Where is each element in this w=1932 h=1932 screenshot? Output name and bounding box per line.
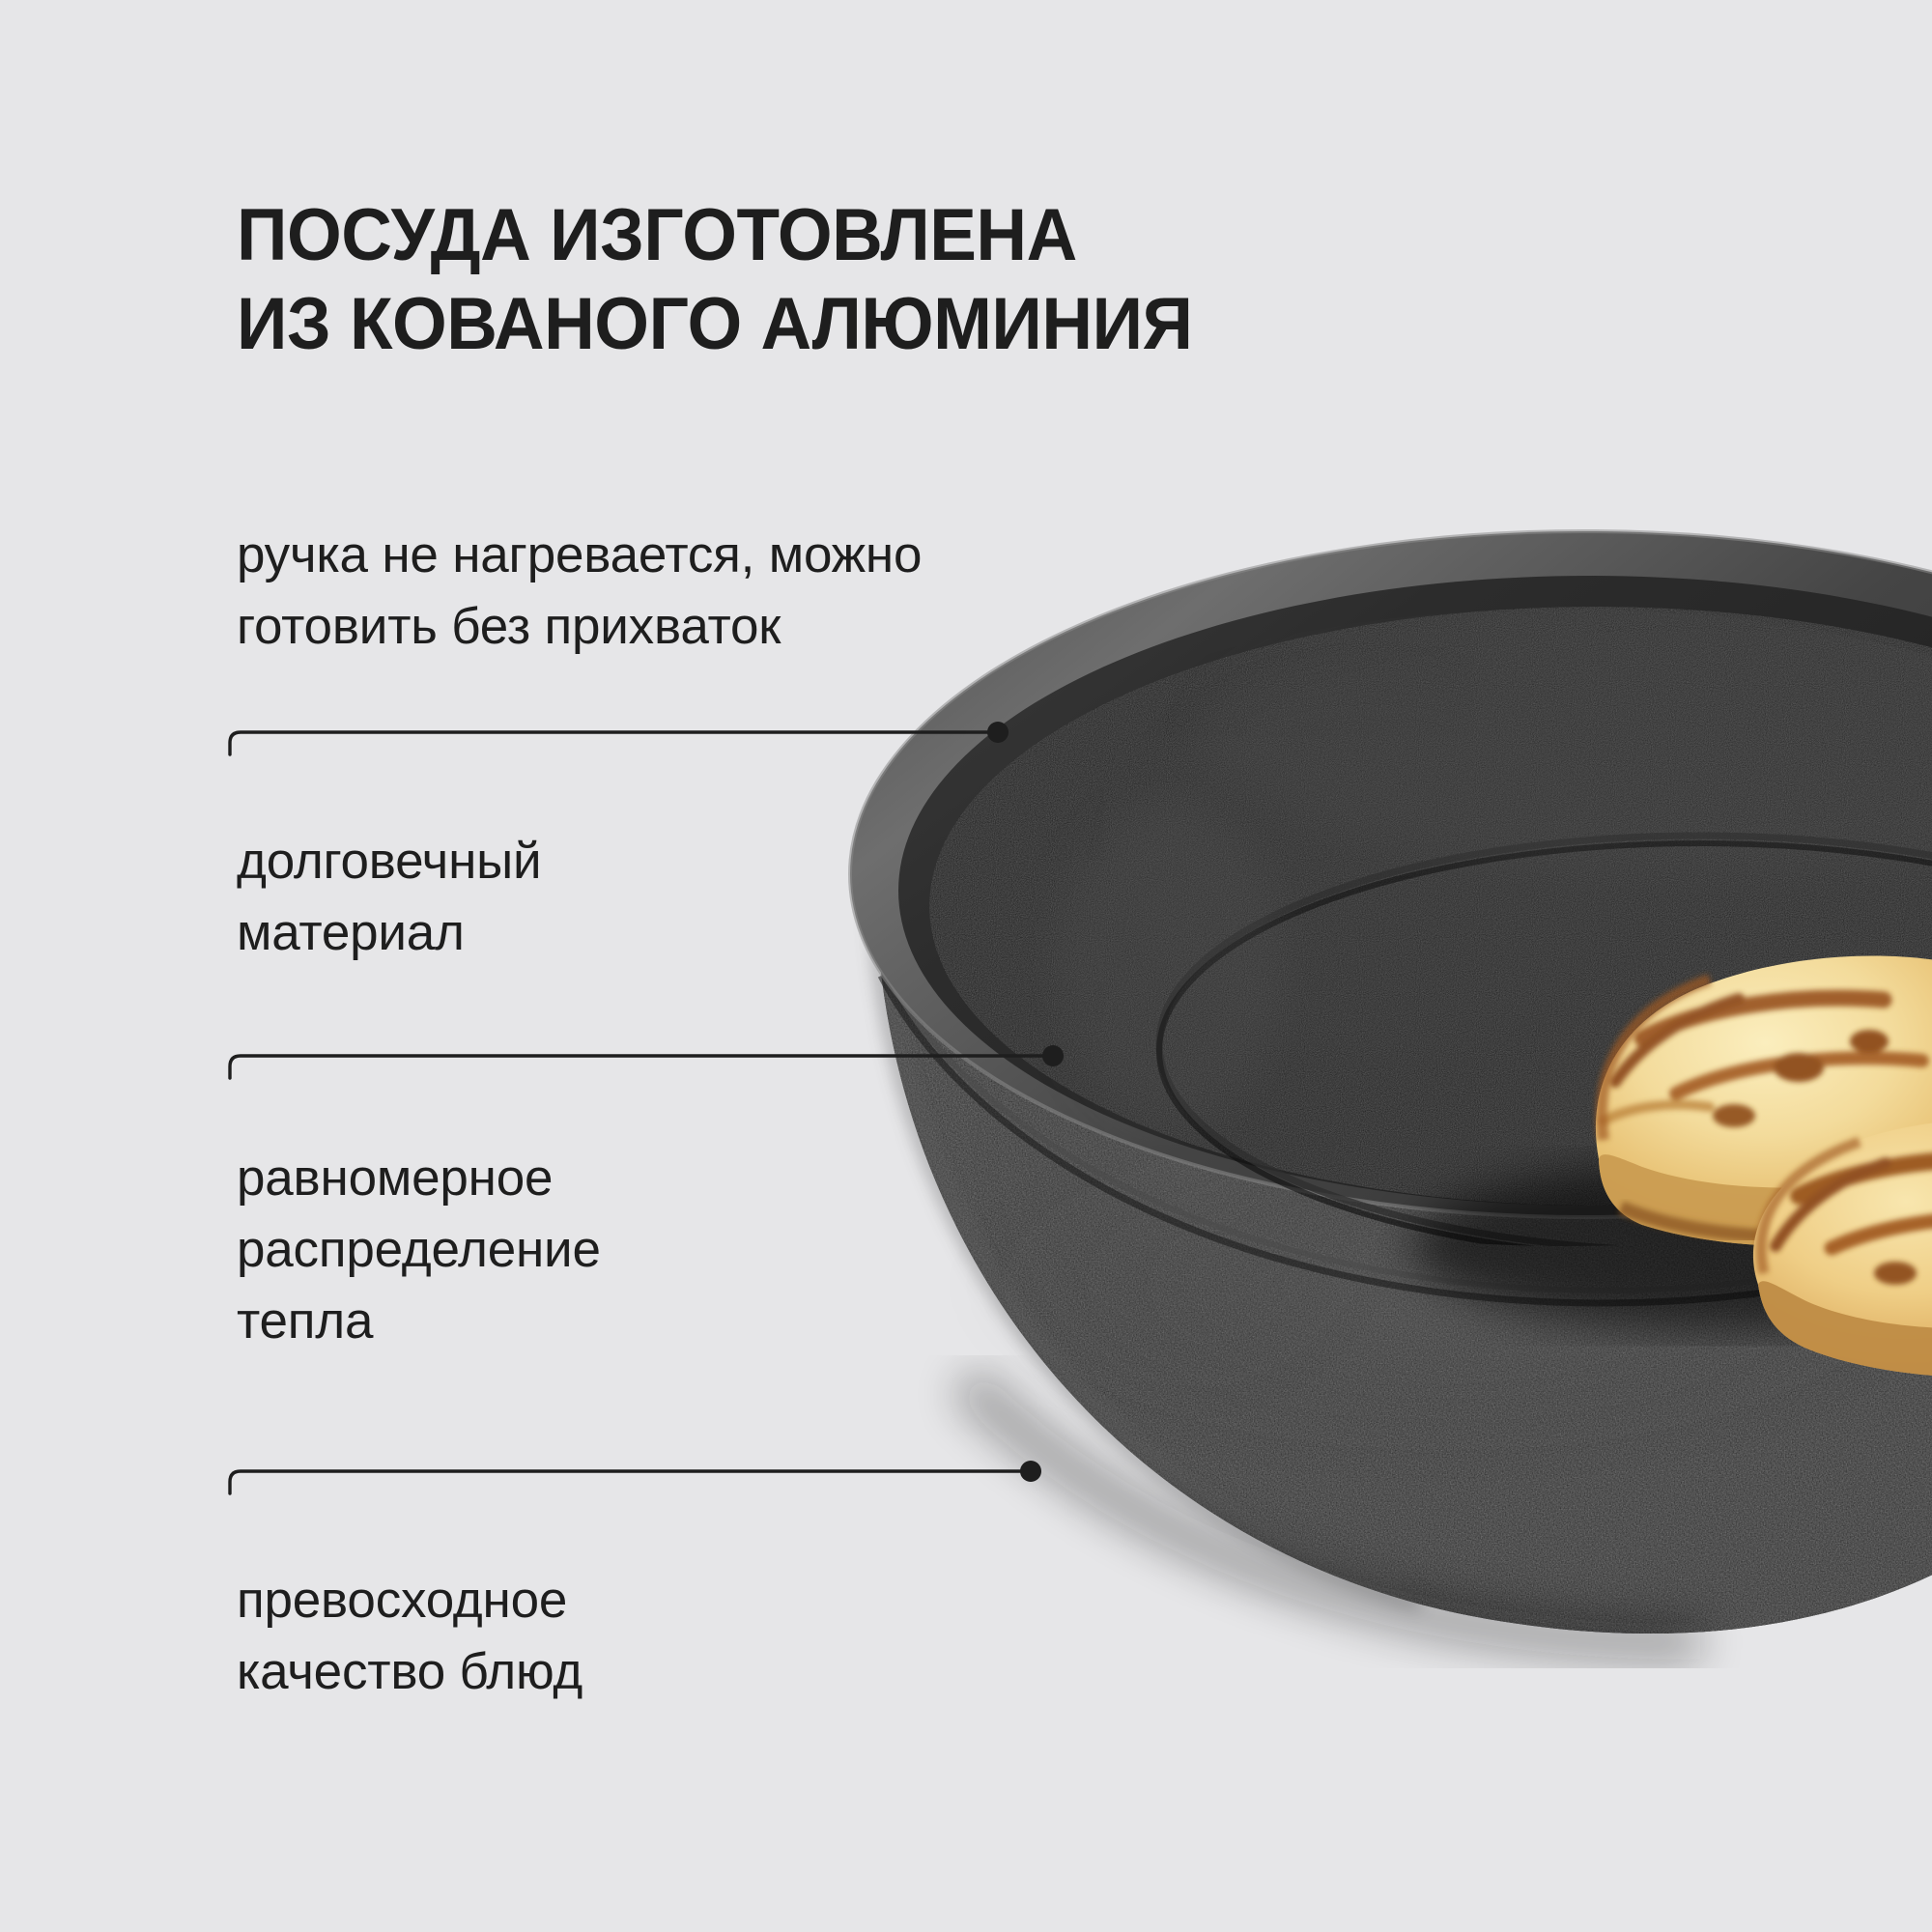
syrnik-back <box>1596 955 1932 1246</box>
leader-line-3-dot <box>1020 1461 1041 1482</box>
leader-line-1 <box>222 710 1024 768</box>
syrnik-front <box>1753 1119 1932 1378</box>
feature-text-handle-stays-cool: ручка не нагревается, можно готовить без… <box>237 520 1348 663</box>
leader-line-1-dot <box>987 722 1009 743</box>
leader-line-3 <box>222 1449 1058 1507</box>
feature-text-superb-dish-quality: превосходное качество блюд <box>237 1565 971 1708</box>
poster-canvas: ПОСУДА ИЗГОТОВЛЕНА ИЗ КОВАНОГО АЛЮМИНИЯ … <box>0 0 1932 1932</box>
feature-text-durable-material: долговечный материал <box>237 826 913 969</box>
leader-line-1-graphic <box>222 710 1024 768</box>
leader-line-2 <box>222 1034 1082 1092</box>
syrniki-food <box>1410 955 1932 1377</box>
pan-body <box>875 850 1932 1642</box>
feature-text-even-heat-distribution: равномерное распределение тепла <box>237 1143 971 1358</box>
page-title: ПОСУДА ИЗГОТОВЛЕНА ИЗ КОВАНОГО АЛЮМИНИЯ <box>237 191 1442 369</box>
leader-line-3-graphic <box>222 1449 1058 1507</box>
leader-line-2-dot <box>1042 1045 1064 1066</box>
pan-interior <box>1053 589 1932 1259</box>
leader-line-2-graphic <box>222 1034 1082 1092</box>
